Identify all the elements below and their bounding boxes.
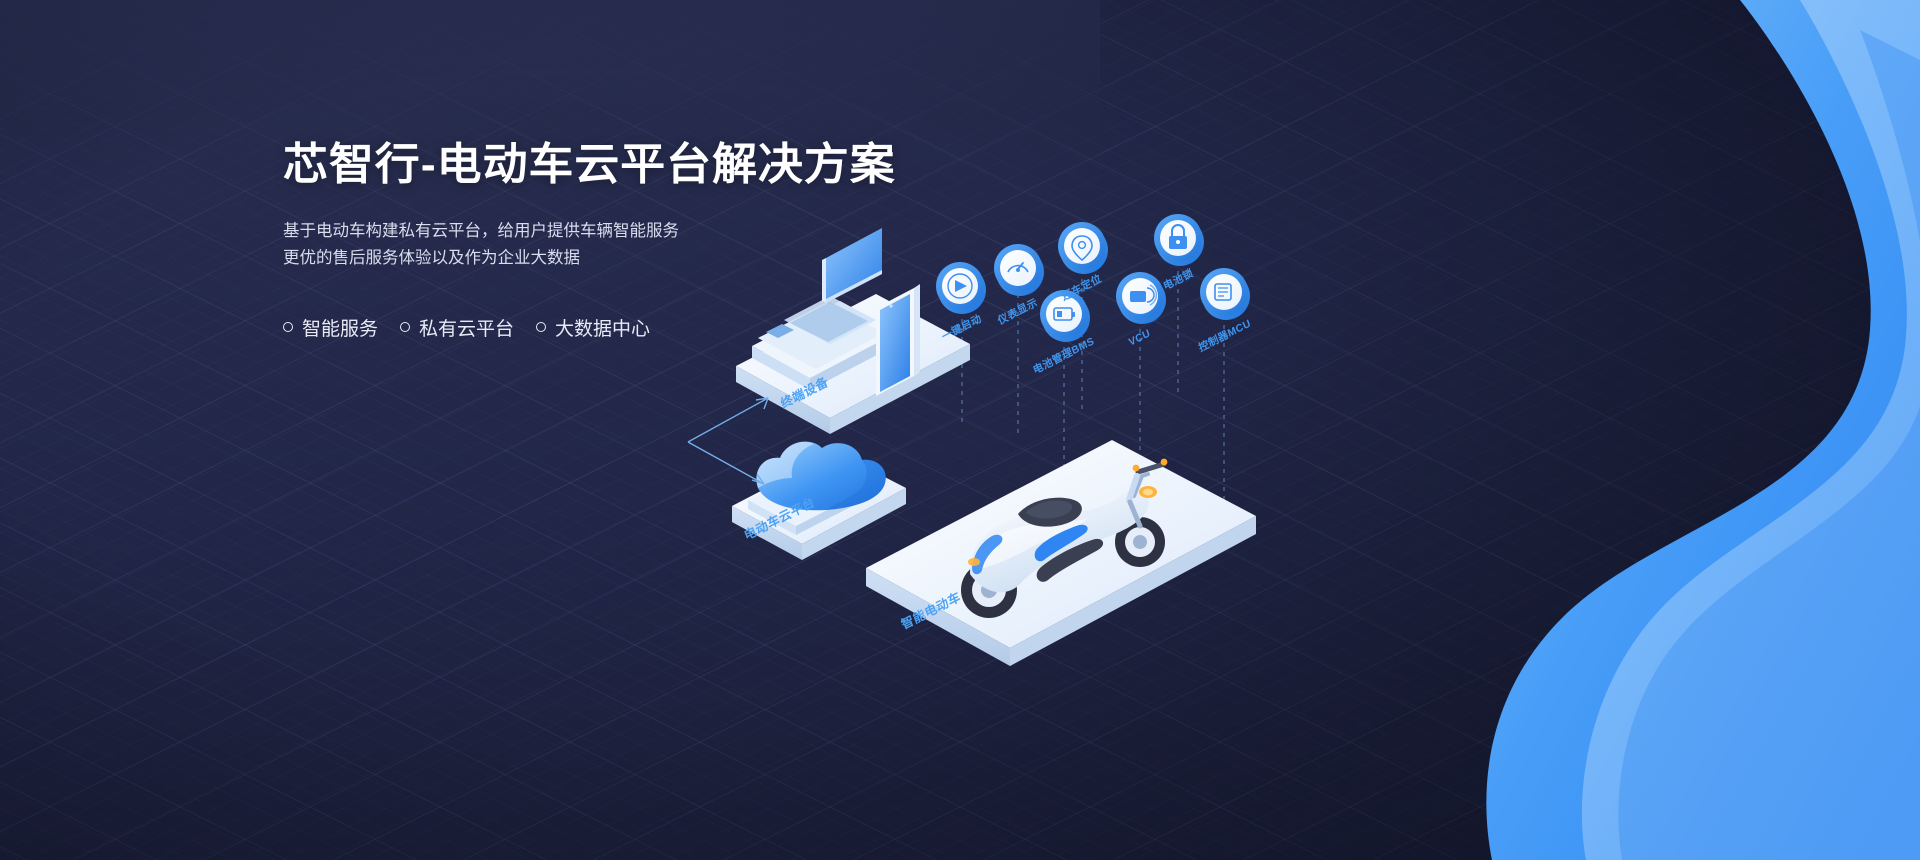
node-disc-one-key-start[interactable] xyxy=(936,262,986,314)
feature-label: 私有云平台 xyxy=(419,314,514,341)
feature-label: 大数据中心 xyxy=(555,314,650,341)
circle-bullet-icon xyxy=(400,322,410,332)
feature-item-private-cloud[interactable]: 私有云平台 xyxy=(400,314,514,341)
illustration-svg xyxy=(640,170,1440,730)
node-disc-battery-lock[interactable] xyxy=(1154,214,1204,266)
circle-bullet-icon xyxy=(536,322,546,332)
node-disc-dashboard[interactable] xyxy=(994,244,1044,296)
double-arrow-icon xyxy=(688,398,768,484)
cloud-icon xyxy=(756,442,885,511)
platform-cloud[interactable] xyxy=(732,442,906,560)
feature-label: 智能服务 xyxy=(302,314,378,341)
node-disc-vcu[interactable] xyxy=(1116,272,1166,324)
node-disc-return-location[interactable] xyxy=(1058,222,1108,274)
platform-terminal-devices[interactable] xyxy=(736,228,970,434)
circle-bullet-icon xyxy=(283,322,293,332)
platform-smart-ev[interactable] xyxy=(866,440,1256,666)
node-disc-mcu[interactable] xyxy=(1200,268,1250,320)
hero-banner: 芯智行-电动车云平台解决方案 基于电动车构建私有云平台，给用户提供车辆智能服务 … xyxy=(0,0,1920,860)
feature-item-big-data[interactable]: 大数据中心 xyxy=(536,314,650,341)
isometric-illustration: 终端设备 电动车云平台 智能电动车 一键启动 仪表显示 还车定位 电池锁 电池管… xyxy=(640,170,1440,730)
feature-item-smart-service[interactable]: 智能服务 xyxy=(283,314,378,341)
